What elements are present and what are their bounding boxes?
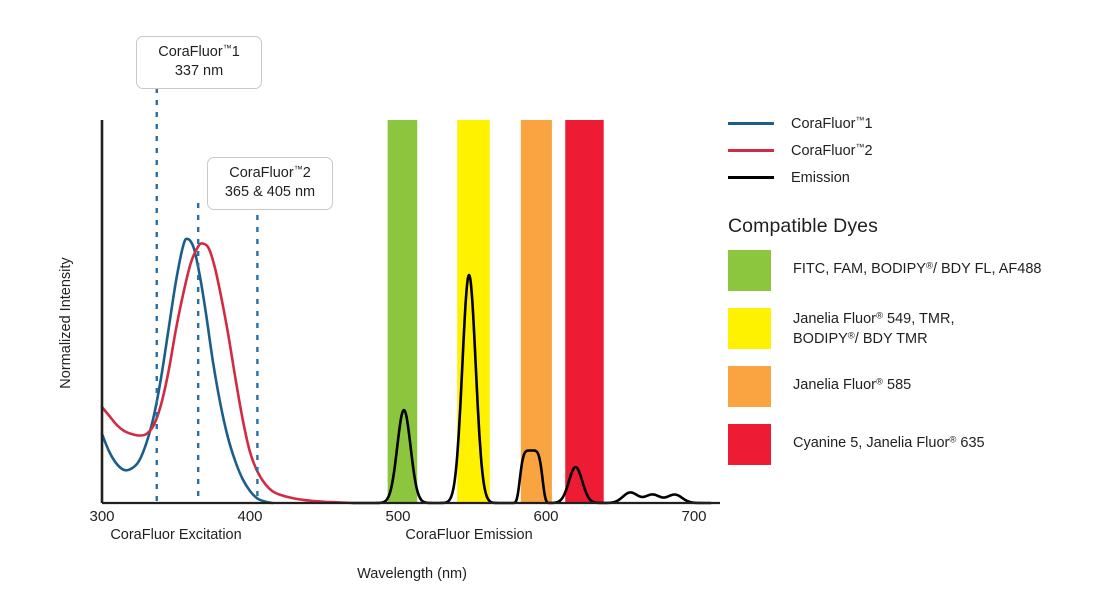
dye-label-line-1-2: BODIPY®/ BDY TMR bbox=[793, 330, 954, 350]
x-region-label-excitation: CoraFluor Excitation bbox=[110, 527, 241, 543]
x-tick-700: 700 bbox=[681, 508, 706, 525]
dye-text: 635 bbox=[956, 435, 984, 451]
dye-row-0: FITC, FAM, BODIPY®/ BDY FL, AF488 bbox=[728, 250, 1098, 291]
legend-series-row-2: Emission bbox=[728, 164, 1098, 191]
dye-label-0: FITC, FAM, BODIPY®/ BDY FL, AF488 bbox=[793, 250, 1041, 280]
dye-text: Janelia Fluor bbox=[793, 311, 876, 327]
dye-text: Cyanine 5, Janelia Fluor bbox=[793, 435, 949, 451]
dye-row-3: Cyanine 5, Janelia Fluor® 635 bbox=[728, 424, 1098, 465]
legend-panel: CoraFluor™1CoraFluor™2Emission Compatibl… bbox=[728, 110, 1098, 482]
dye-text: BODIPY bbox=[793, 331, 848, 347]
registered-icon: ® bbox=[876, 311, 883, 322]
series-legend: CoraFluor™1CoraFluor™2Emission bbox=[728, 110, 1098, 191]
callout-corafluor-2: CoraFluor™2 365 & 405 nm bbox=[207, 157, 333, 210]
dye-band-0 bbox=[388, 120, 418, 503]
trademark-icon: ™ bbox=[294, 164, 303, 174]
x-axis-title: Wavelength (nm) bbox=[357, 566, 467, 582]
callout-cf2-line2: 365 & 405 nm bbox=[218, 183, 322, 202]
x-tick-500: 500 bbox=[385, 508, 410, 525]
dye-text: FITC, FAM, BODIPY bbox=[793, 261, 926, 277]
dye-text: Janelia Fluor bbox=[793, 377, 876, 393]
dye-row-1: Janelia Fluor® 549, TMR,BODIPY®/ BDY TMR bbox=[728, 308, 1098, 349]
dye-label-line-0-1: FITC, FAM, BODIPY®/ BDY FL, AF488 bbox=[793, 260, 1041, 280]
x-region-label-emission: CoraFluor Emission bbox=[405, 527, 532, 543]
dye-label-3: Cyanine 5, Janelia Fluor® 635 bbox=[793, 424, 985, 454]
callout-cf1-line2: 337 nm bbox=[147, 62, 251, 81]
callout-cf2-line1: CoraFluor™2 bbox=[218, 164, 322, 183]
dye-label-2: Janelia Fluor® 585 bbox=[793, 366, 911, 396]
dye-band-3 bbox=[565, 120, 603, 503]
legend-line-swatch-2 bbox=[728, 176, 774, 179]
callout-cf1-name: CoraFluor bbox=[158, 44, 222, 60]
dye-label-line-3-1: Cyanine 5, Janelia Fluor® 635 bbox=[793, 434, 985, 454]
legend-series-label-1: CoraFluor™2 bbox=[791, 142, 873, 159]
legend-series-name-0: CoraFluor bbox=[791, 116, 855, 132]
legend-series-row-1: CoraFluor™2 bbox=[728, 137, 1098, 164]
dye-color-swatch-3 bbox=[728, 424, 771, 465]
callout-cf2-num: 2 bbox=[303, 165, 311, 181]
dye-row-2: Janelia Fluor® 585 bbox=[728, 366, 1098, 407]
legend-series-name-1: CoraFluor bbox=[791, 143, 855, 159]
registered-icon: ® bbox=[876, 377, 883, 388]
callout-cf1-line1: CoraFluor™1 bbox=[147, 43, 251, 62]
legend-series-label-0: CoraFluor™1 bbox=[791, 115, 873, 132]
registered-icon: ® bbox=[848, 330, 855, 341]
curve-excitation-2 bbox=[102, 243, 354, 503]
legend-series-row-0: CoraFluor™1 bbox=[728, 110, 1098, 137]
dye-text: / BDY FL, AF488 bbox=[933, 261, 1042, 277]
dye-label-line-2-1: Janelia Fluor® 585 bbox=[793, 376, 911, 396]
dye-color-swatch-0 bbox=[728, 250, 771, 291]
x-tick-300: 300 bbox=[89, 508, 114, 525]
dye-color-swatch-1 bbox=[728, 308, 771, 349]
dye-color-swatch-2 bbox=[728, 366, 771, 407]
dye-label-line-1-1: Janelia Fluor® 549, TMR, bbox=[793, 310, 954, 330]
callout-corafluor-1: CoraFluor™1 337 nm bbox=[136, 36, 262, 89]
dye-label-1: Janelia Fluor® 549, TMR,BODIPY®/ BDY TMR bbox=[793, 308, 954, 349]
legend-series-name-2: Emission bbox=[791, 170, 850, 186]
callout-cf1-num: 1 bbox=[232, 44, 240, 60]
dye-text: 549, TMR, bbox=[883, 311, 954, 327]
callout-cf2-name: CoraFluor bbox=[229, 165, 293, 181]
x-tick-600: 600 bbox=[533, 508, 558, 525]
dye-text: 585 bbox=[883, 377, 911, 393]
dye-band-2 bbox=[521, 120, 552, 503]
x-tick-400: 400 bbox=[237, 508, 262, 525]
spectra-chart: CoraFluor™1 337 nm CoraFluor™2 365 & 405… bbox=[0, 0, 1110, 612]
legend-series-label-2: Emission bbox=[791, 170, 850, 186]
registered-icon: ® bbox=[926, 261, 933, 272]
compatible-dyes-heading: Compatible Dyes bbox=[728, 215, 1098, 238]
y-axis-title: Normalized Intensity bbox=[58, 228, 74, 418]
legend-series-num-0: 1 bbox=[864, 116, 872, 132]
legend-line-swatch-0 bbox=[728, 122, 774, 125]
trademark-icon: ™ bbox=[223, 43, 232, 53]
dye-text: / BDY TMR bbox=[855, 331, 928, 347]
legend-line-swatch-1 bbox=[728, 149, 774, 152]
compatible-dyes-list: FITC, FAM, BODIPY®/ BDY FL, AF488Janelia… bbox=[728, 250, 1098, 465]
legend-series-num-1: 2 bbox=[864, 143, 872, 159]
